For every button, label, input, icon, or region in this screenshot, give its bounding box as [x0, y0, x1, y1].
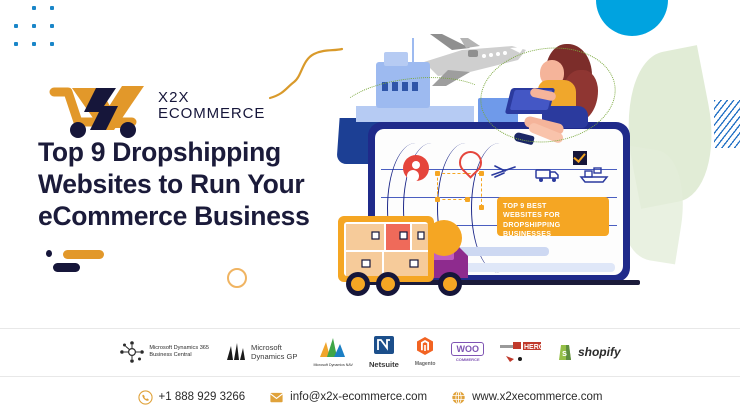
contact-website[interactable]: www.x2xecommerce.com [451, 390, 602, 405]
magento-icon [416, 336, 434, 356]
logo-label: COMMERCE [451, 357, 484, 362]
logo-label: Netsuite [369, 360, 399, 369]
banner-line-3: DROPSHIPPING [503, 221, 603, 230]
logo-label: shopify [578, 345, 621, 359]
ship-small-icon [579, 165, 609, 183]
netsuite-icon [373, 335, 395, 355]
promo-banner: TOP 9 BEST WEBSITES FOR DROPSHIPPING BUS… [497, 197, 609, 236]
logo-microsoft-dynamics-gp: MicrosoftDynamics GP [225, 342, 297, 362]
logo-managed-hero: HERO [500, 340, 542, 364]
plane-small-icon [491, 163, 517, 179]
contact-phone[interactable]: +1 888 929 3266 [138, 390, 246, 405]
dynamics-nav-icon [318, 336, 348, 358]
banner-line-1: TOP 9 BEST [503, 202, 603, 211]
brand-line-2: ECOMMERCE [158, 106, 265, 122]
dynamics-365-nodes-icon [119, 340, 145, 364]
logo-label-woo: WOO [451, 342, 484, 356]
pill-orange-decoration [63, 250, 104, 259]
hatch-lines-decoration [714, 100, 740, 148]
logo-woocommerce: WOO COMMERCE [451, 342, 484, 362]
contact-website-value: www.x2xecommerce.com [472, 391, 602, 403]
contact-email-value: info@x2x-ecommerce.com [290, 391, 427, 403]
phone-icon [138, 390, 153, 405]
logo-netsuite: Netsuite [369, 335, 399, 369]
logo-microsoft-dynamics-nav: Microsoft Dynamics NAV [313, 336, 352, 367]
partner-logo-strip: Microsoft Dynamics 365Business Central M… [0, 328, 740, 376]
brand-wordmark: X2X ECOMMERCE [158, 90, 265, 122]
shopify-bag-icon: s [558, 342, 574, 362]
logo-label: Magento [415, 361, 436, 367]
slide-canvas: X2X ECOMMERCE Top 9 Dropshipping Website… [0, 0, 740, 416]
logo-shopify: s shopify [558, 342, 621, 362]
checkbox-small-icon [573, 151, 587, 165]
cargo-ship-mast [412, 38, 414, 62]
truck-small-icon [535, 167, 561, 183]
globe-icon [451, 390, 466, 405]
banner-line-2: WEBSITES FOR [503, 211, 603, 220]
logo-magento: Magento [415, 336, 436, 367]
pill-navy-decoration [53, 263, 80, 272]
ring-decoration [227, 268, 247, 288]
contact-email[interactable]: info@x2x-ecommerce.com [269, 390, 427, 405]
envelope-icon [269, 390, 284, 405]
svg-text:s: s [562, 348, 567, 358]
hero-icon: HERO [500, 340, 542, 364]
logo-microsoft-dynamics-365-business-central: Microsoft Dynamics 365Business Central [119, 340, 209, 364]
cargo-ship-bridge [384, 52, 408, 66]
dot-decoration [46, 250, 52, 257]
brand-logo: X2X ECOMMERCE [48, 82, 248, 138]
hero-illustration: TOP 9 BEST WEBSITES FOR DROPSHIPPING BUS… [330, 18, 660, 318]
divider-bottom [0, 376, 740, 377]
contact-bar: +1 888 929 3266 info@x2x-ecommerce.com w… [0, 382, 740, 412]
contact-phone-value: +1 888 929 3266 [159, 391, 246, 403]
delivery-truck-illustration [332, 208, 480, 308]
logo-label: Microsoft Dynamics 365Business Central [149, 345, 209, 359]
user-avatar-icon [403, 155, 429, 181]
logo-label: MicrosoftDynamics GP [251, 343, 297, 362]
page-title: Top 9 Dropshipping Websites to Run Your … [38, 137, 338, 232]
x2x-cart-logo-icon [48, 82, 152, 138]
banner-line-4: BUSINESSES [503, 230, 603, 239]
svg-text:HERO: HERO [524, 344, 542, 351]
logo-label: Microsoft Dynamics NAV [313, 363, 352, 367]
dynamics-gp-bars-icon [225, 342, 247, 362]
dot-grid-decoration [14, 6, 60, 48]
brand-line-1: X2X [158, 90, 265, 106]
